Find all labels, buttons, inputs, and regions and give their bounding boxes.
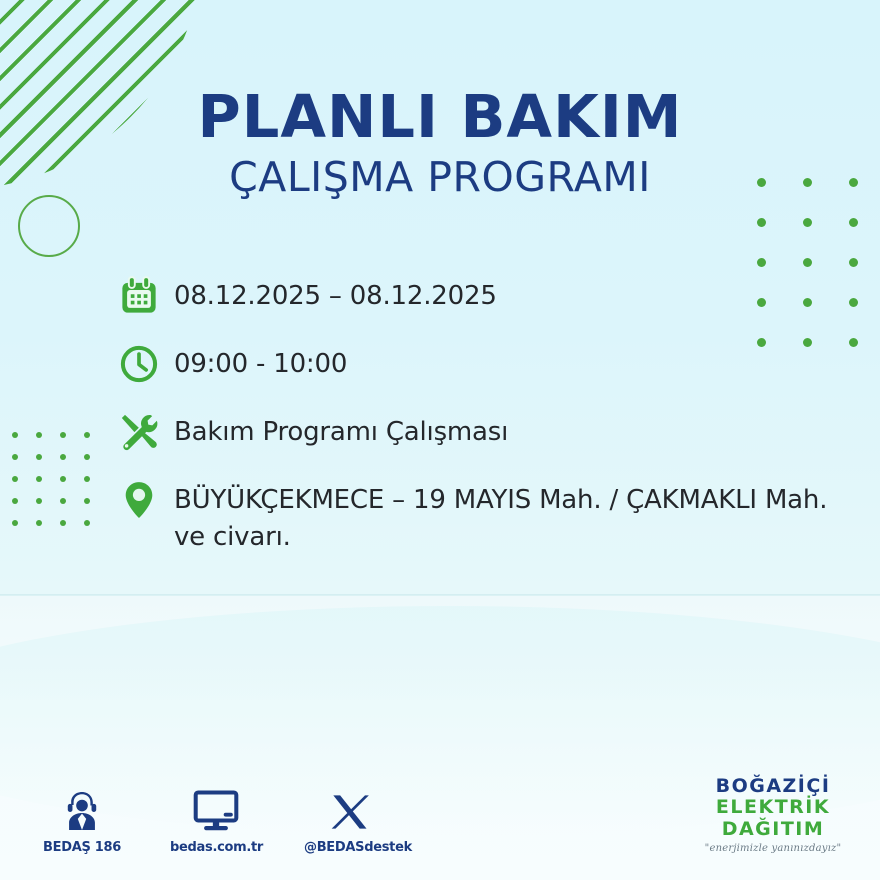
title-secondary: ÇALIŞMA PROGRAMI [0,154,880,201]
dot [12,498,18,504]
circle-outline-decoration [18,195,80,257]
detail-text-location: BÜYÜKÇEKMECE – 19 MAYIS Mah. / ÇAKMAKLI … [174,476,858,556]
dot [12,454,18,460]
dot [12,476,18,482]
dot [84,432,90,438]
contact-call-center[interactable]: BEDAŞ 186 [36,786,128,855]
detail-text-date: 08.12.2025 – 08.12.2025 [174,272,497,315]
contact-x-social[interactable]: @BEDASdestek [304,786,396,855]
dot [84,498,90,504]
dot [60,520,66,526]
contact-website[interactable]: bedas.com.tr [170,786,262,855]
dot [36,476,42,482]
location-pin-icon [118,476,174,524]
dot [84,476,90,482]
maintenance-details-list: 08.12.2025 – 08.12.2025 09:00 - 10:00 [118,272,858,576]
calendar-icon [118,272,174,320]
footer-contact-links: BEDAŞ 186 bedas.com.tr @BEDASdestek [36,786,396,855]
dot [60,476,66,482]
dot [84,454,90,460]
dot [36,520,42,526]
dot [849,258,858,267]
dot [36,432,42,438]
brand-line-bogazici: BOĞAZİÇİ [688,776,858,797]
dot [60,454,66,460]
dot [803,258,812,267]
dot [60,498,66,504]
detail-row-time: 09:00 - 10:00 [118,340,858,388]
dot [60,432,66,438]
detail-text-worktype: Bakım Programı Çalışması [174,408,508,451]
title-primary: PLANLI BAKIM [0,86,880,148]
dot [757,258,766,267]
dot [849,218,858,227]
tools-icon [118,408,174,456]
detail-row-worktype: Bakım Programı Çalışması [118,408,858,456]
detail-text-time: 09:00 - 10:00 [174,340,347,383]
contact-website-label: bedas.com.tr [170,840,262,855]
contact-call-center-label: BEDAŞ 186 [36,840,128,855]
brand-logo: BOĞAZİÇİ ELEKTRİK DAĞITIM "enerjimizle y… [688,776,858,854]
brand-line-elektrik: ELEKTRİK [688,797,858,818]
monitor-icon [170,786,262,832]
brand-line-dagitim: DAĞITIM [688,819,858,840]
dot-grid-left-decoration [12,432,108,542]
detail-row-location: BÜYÜKÇEKMECE – 19 MAYIS Mah. / ÇAKMAKLI … [118,476,858,556]
dot [12,520,18,526]
dot [84,520,90,526]
dot [36,498,42,504]
page-title: PLANLI BAKIM ÇALIŞMA PROGRAMI [0,86,880,201]
detail-row-date: 08.12.2025 – 08.12.2025 [118,272,858,320]
clock-icon [118,340,174,388]
call-center-agent-icon [36,786,128,832]
dot [757,218,766,227]
contact-x-social-label: @BEDASdestek [304,840,396,855]
brand-tagline: "enerjimizle yanınızdayız" [688,843,858,854]
planned-maintenance-poster: PLANLI BAKIM ÇALIŞMA PROGRAMI [0,0,880,880]
x-twitter-icon [304,786,396,832]
top-panel: PLANLI BAKIM ÇALIŞMA PROGRAMI [0,0,880,596]
dot [803,218,812,227]
dot [36,454,42,460]
dot [12,432,18,438]
